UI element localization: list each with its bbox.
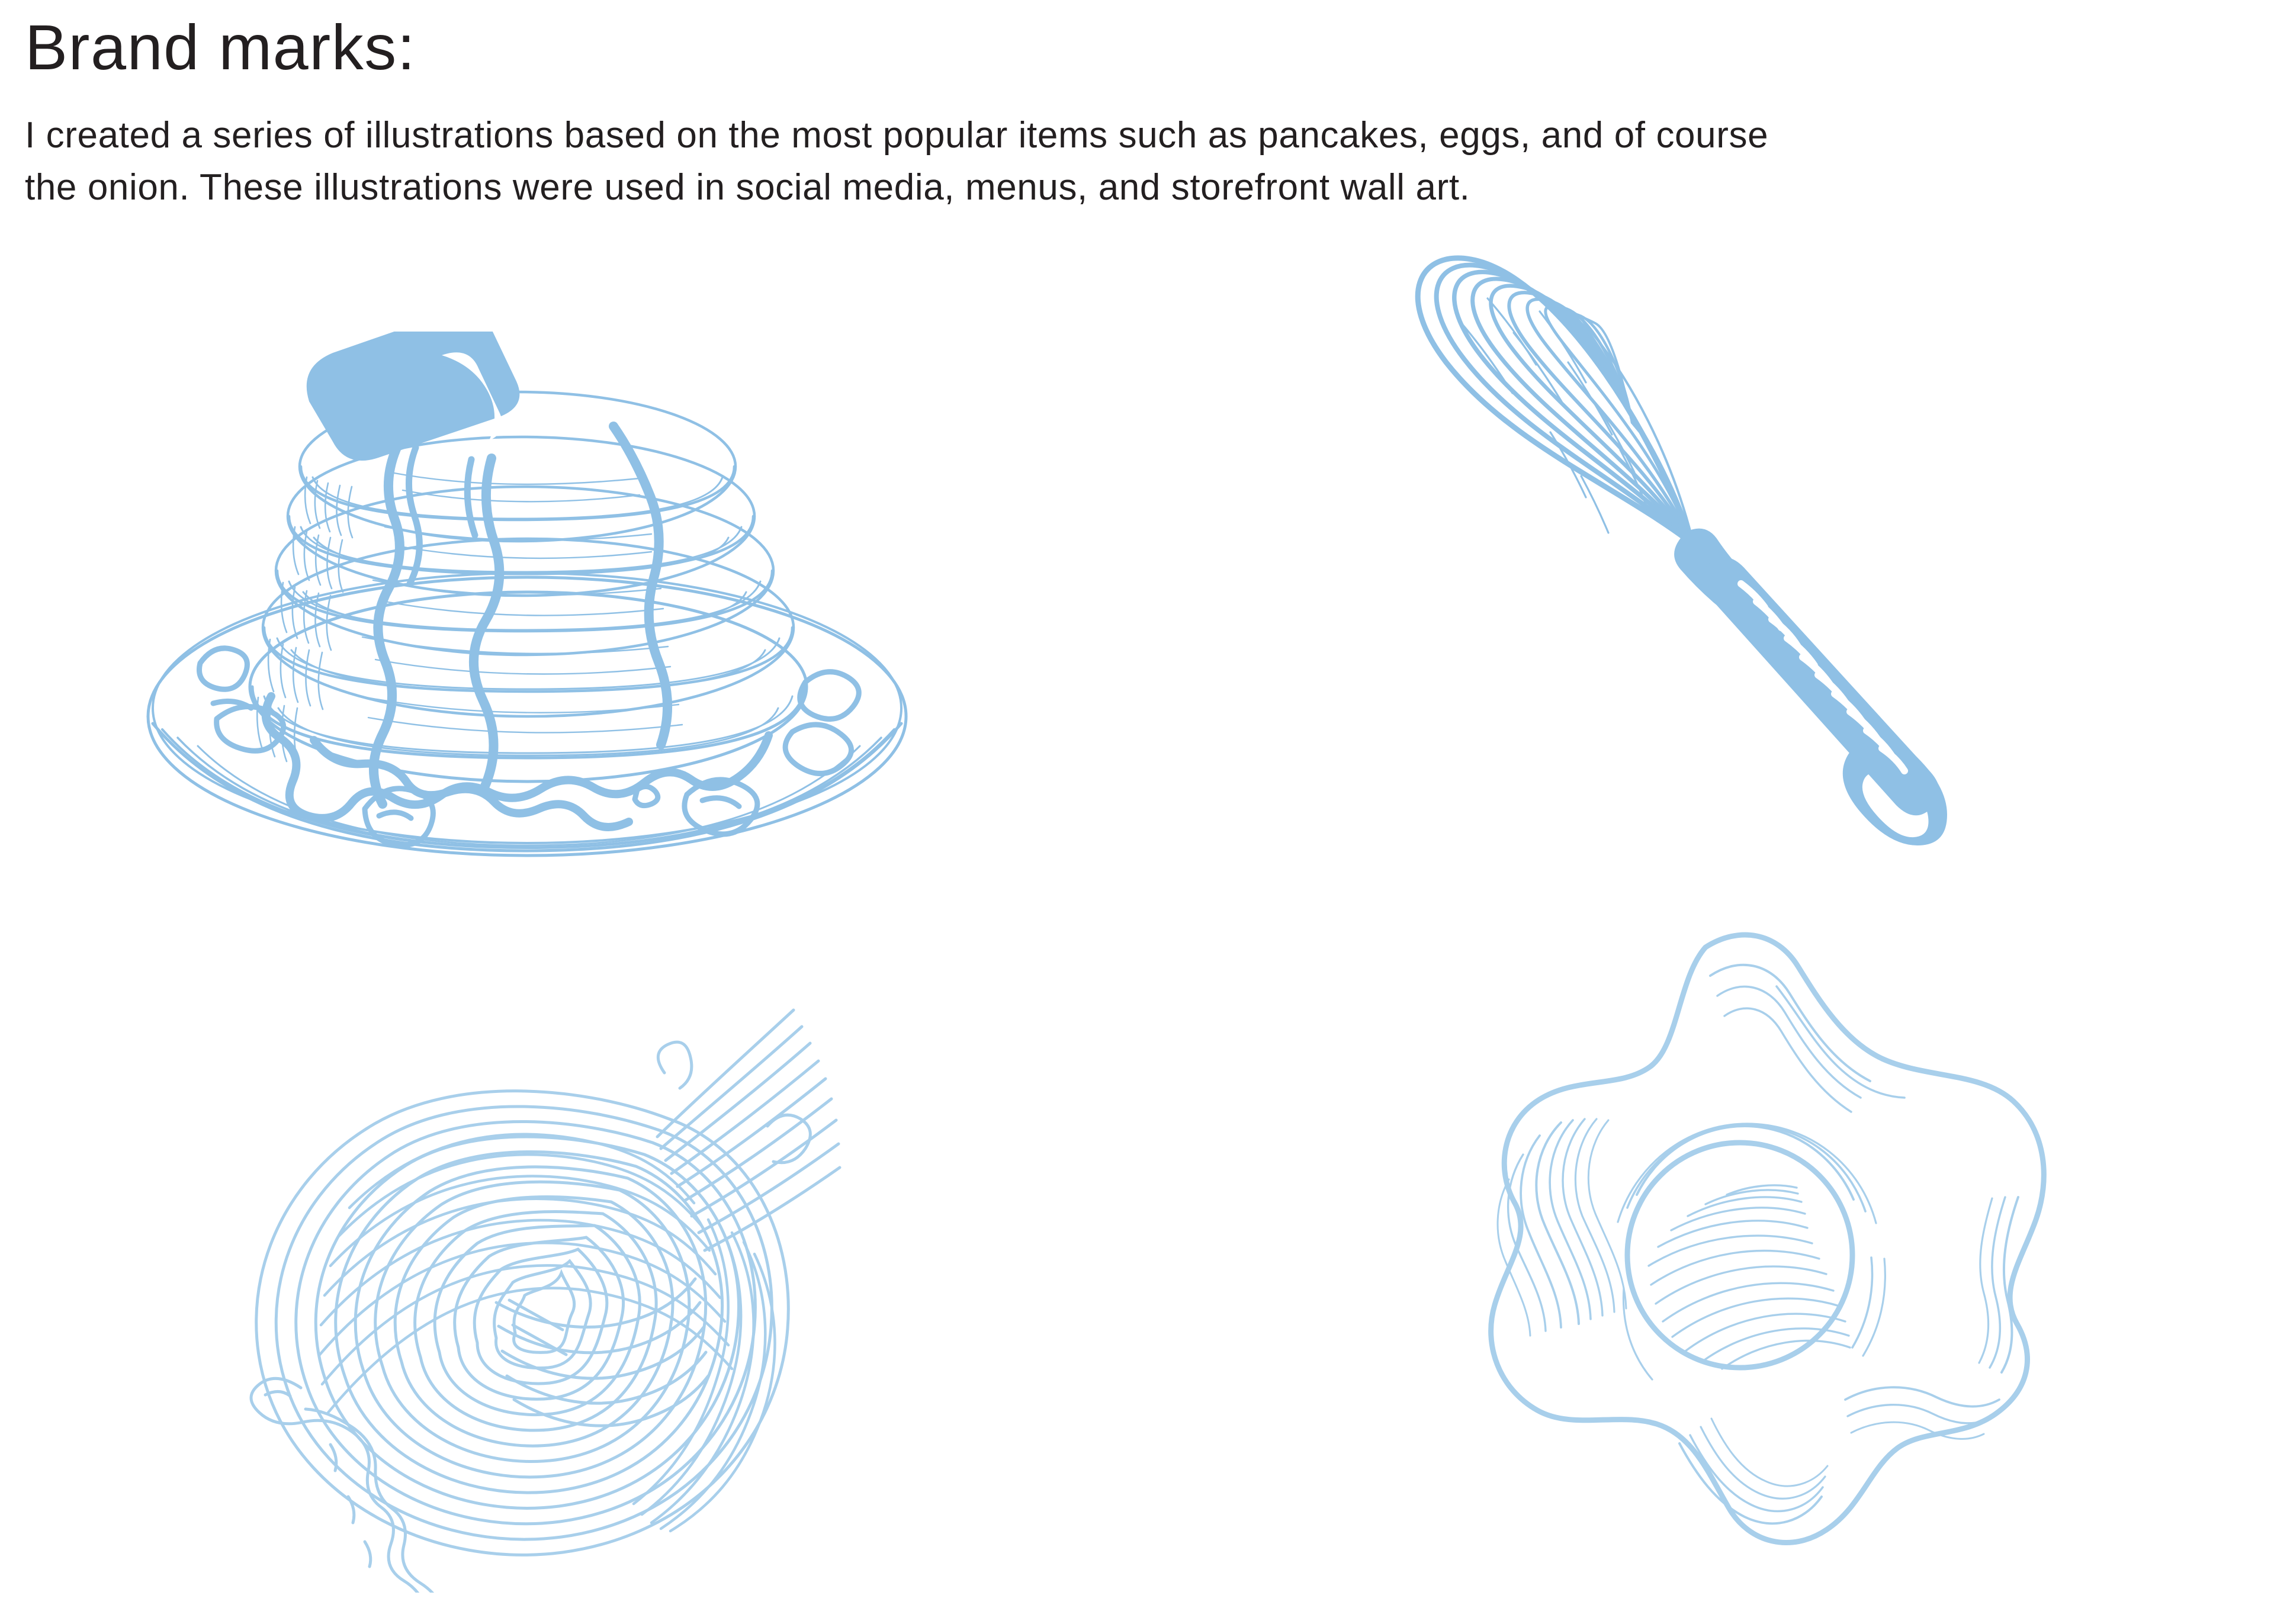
butter-pat — [307, 332, 520, 461]
whisk-illustration — [1362, 237, 2013, 864]
egg-yolk — [1627, 1143, 1852, 1368]
pancake-stack-illustration — [136, 332, 942, 876]
page-title: Brand marks: — [25, 15, 416, 79]
onion-illustration — [231, 971, 847, 1593]
fried-egg-illustration — [1398, 912, 2067, 1575]
intro-paragraph: I created a series of illustrations base… — [25, 110, 1801, 214]
